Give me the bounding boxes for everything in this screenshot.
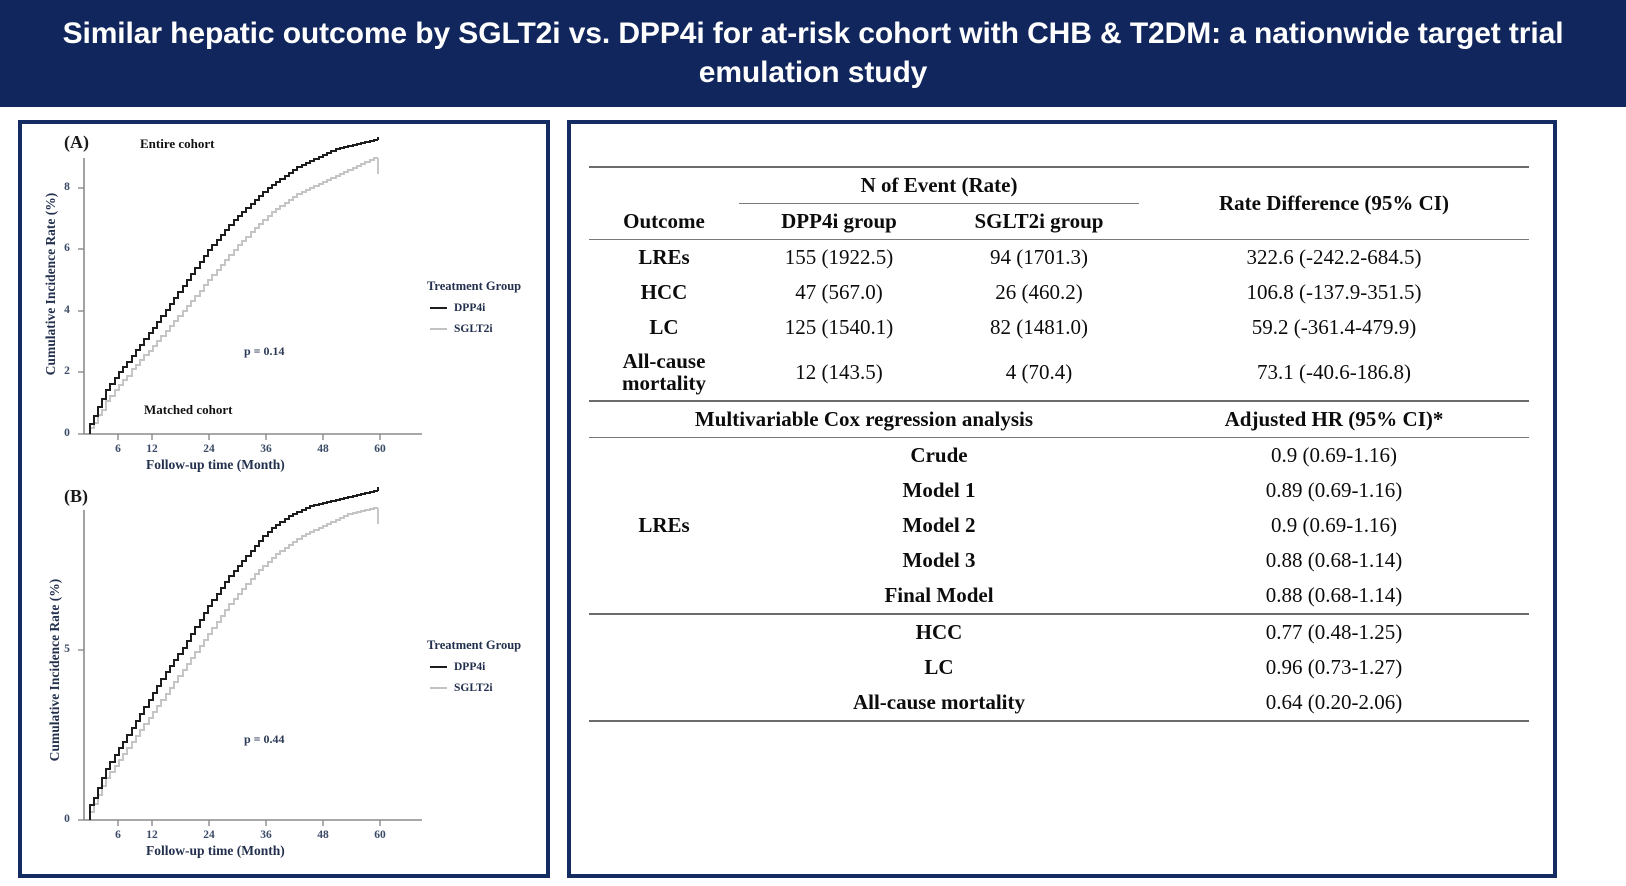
header-adjusted-hr: Adjusted HR (95% CI)* [1139, 401, 1529, 438]
figure-a-ytick-4: 4 [58, 304, 76, 316]
cell-cox-model: Model 1 [739, 473, 1139, 508]
cell-cox-model: Crude [739, 437, 1139, 473]
cell-adjusted-hr: 0.77 (0.48-1.25) [1139, 614, 1529, 650]
figure-a-xtick-60: 60 [370, 443, 390, 455]
cell-dpp4i: 155 (1922.5) [739, 240, 939, 276]
figure-a-ytick-8: 8 [58, 181, 76, 193]
cell-cox-model: Final Model [739, 578, 1139, 614]
cell-rate-difference: 322.6 (-242.2-684.5) [1139, 240, 1529, 276]
figure-b-legend-item-dpp4i[interactable]: DPP4i [430, 661, 485, 673]
table-cox-header-row: Multivariable Cox regression analysis Ad… [589, 401, 1529, 438]
cell-sglt2i: 94 (1701.3) [939, 240, 1139, 276]
cell-adjusted-hr: 0.9 (0.69-1.16) [1139, 437, 1529, 473]
figure-a-legend-title: Treatment Group [427, 279, 521, 294]
table-row: LREs 155 (1922.5) 94 (1701.3) 322.6 (-24… [589, 240, 1529, 276]
figure-a-ytick-6: 6 [58, 242, 76, 254]
figure-a-x-axis-label: Follow-up time (Month) [146, 457, 285, 473]
cell-outcome: LC [739, 650, 1139, 685]
spacer-cell [589, 437, 739, 473]
cell-adjusted-hr: 0.89 (0.69-1.16) [1139, 473, 1529, 508]
cell-dpp4i: 125 (1540.1) [739, 310, 939, 345]
figure-a-legend-label-sglt2i: SGLT2i [454, 323, 493, 335]
page-title: Similar hepatic outcome by SGLT2i vs. DP… [26, 15, 1600, 92]
figure-b-legend-item-sglt2i[interactable]: SGLT2i [430, 682, 493, 694]
figure-b-xtick-6: 6 [108, 829, 128, 841]
figure-b-legend-label-sglt2i: SGLT2i [454, 682, 493, 694]
cell-outcome: LREs [589, 240, 739, 276]
cell-adjusted-hr: 0.64 (0.20-2.06) [1139, 685, 1529, 721]
results-table: N of Event (Rate) Rate Difference (95% C… [589, 166, 1529, 722]
figure-a-pvalue: p = 0.14 [244, 344, 285, 359]
table-row: Model 1 0.89 (0.69-1.16) [589, 473, 1529, 508]
figure-a-xtick-12: 12 [142, 443, 162, 455]
header-n-of-event: N of Event (Rate) [739, 167, 1139, 204]
cell-dpp4i: 47 (567.0) [739, 275, 939, 310]
cell-outcome: HCC [589, 275, 739, 310]
cell-adjusted-hr: 0.9 (0.69-1.16) [1139, 508, 1529, 543]
figure-b-x-axis-label: Follow-up time (Month) [146, 843, 285, 859]
cell-rate-difference: 59.2 (-361.4-479.9) [1139, 310, 1529, 345]
cell-adjusted-hr: 0.88 (0.68-1.14) [1139, 543, 1529, 578]
spacer-cell [589, 578, 739, 614]
cell-sglt2i: 26 (460.2) [939, 275, 1139, 310]
spacer-cell [589, 473, 739, 508]
spacer-cell [589, 650, 739, 685]
header-dpp4i-group: DPP4i group [739, 204, 939, 240]
table-header-group-row: N of Event (Rate) Rate Difference (95% C… [589, 167, 1529, 204]
cell-outcome: All-cause mortality [589, 345, 739, 401]
figure-a: (A) Entire cohort Matched cohort Cumulat… [22, 124, 546, 480]
figure-a-legend-item-sglt2i[interactable]: SGLT2i [430, 323, 493, 335]
table-row: Crude 0.9 (0.69-1.16) [589, 437, 1529, 473]
figure-b-legend-title: Treatment Group [427, 638, 521, 653]
cell-adjusted-hr: 0.88 (0.68-1.14) [1139, 578, 1529, 614]
figure-b-pvalue: p = 0.44 [244, 732, 285, 747]
line-swatch-icon [430, 328, 447, 331]
cell-cox-model: Model 2 [739, 508, 1139, 543]
table-row: All-cause mortality 12 (143.5) 4 (70.4) … [589, 345, 1529, 401]
figure-a-legend-label-dpp4i: DPP4i [454, 302, 485, 314]
cell-sglt2i: 4 (70.4) [939, 345, 1139, 401]
figure-b-ytick-0: 0 [58, 813, 76, 825]
cell-rate-difference: 73.1 (-40.6-186.8) [1139, 345, 1529, 401]
figure-a-legend-item-dpp4i[interactable]: DPP4i [430, 302, 485, 314]
cell-dpp4i: 12 (143.5) [739, 345, 939, 401]
figure-a-ytick-0: 0 [58, 427, 76, 439]
cell-outcome-line2: mortality [622, 371, 706, 395]
figure-a-ytick-2: 2 [58, 365, 76, 377]
cell-rate-difference: 106.8 (-137.9-351.5) [1139, 275, 1529, 310]
table-row: LREs Model 2 0.9 (0.69-1.16) [589, 508, 1529, 543]
poster-title-banner: Similar hepatic outcome by SGLT2i vs. DP… [0, 0, 1626, 107]
figure-a-xtick-24: 24 [199, 443, 219, 455]
figure-a-xtick-36: 36 [256, 443, 276, 455]
header-sglt2i-group: SGLT2i group [939, 204, 1139, 240]
figure-b-xtick-36: 36 [256, 829, 276, 841]
line-swatch-icon [430, 687, 447, 690]
figures-panel: (A) Entire cohort Matched cohort Cumulat… [18, 120, 550, 878]
header-rate-difference: Rate Difference (95% CI) [1139, 167, 1529, 240]
cell-outcome: LC [589, 310, 739, 345]
poster-root: Similar hepatic outcome by SGLT2i vs. DP… [0, 0, 1626, 886]
table-row: HCC 0.77 (0.48-1.25) [589, 614, 1529, 650]
figure-b-xtick-24: 24 [199, 829, 219, 841]
spacer-cell [589, 543, 739, 578]
spacer-cell [589, 167, 739, 204]
line-swatch-icon [430, 307, 447, 310]
figure-b-legend-label-dpp4i: DPP4i [454, 661, 485, 673]
figure-b-xtick-60: 60 [370, 829, 390, 841]
spacer-cell [589, 685, 739, 721]
cell-adjusted-hr: 0.96 (0.73-1.27) [1139, 650, 1529, 685]
header-cox-analysis: Multivariable Cox regression analysis [589, 401, 1139, 438]
table-row: All-cause mortality 0.64 (0.20-2.06) [589, 685, 1529, 721]
table-row: Final Model 0.88 (0.68-1.14) [589, 578, 1529, 614]
table-row: HCC 47 (567.0) 26 (460.2) 106.8 (-137.9-… [589, 275, 1529, 310]
spacer-cell [589, 614, 739, 650]
line-swatch-icon [430, 666, 447, 669]
cell-outcome: HCC [739, 614, 1139, 650]
cell-cox-group-label: LREs [589, 508, 739, 543]
table-row: LC 0.96 (0.73-1.27) [589, 650, 1529, 685]
cell-cox-model: Model 3 [739, 543, 1139, 578]
cell-outcome: All-cause mortality [739, 685, 1139, 721]
figure-b-xtick-48: 48 [313, 829, 333, 841]
figure-b-ytick-5: 5 [58, 643, 76, 655]
figure-b-xtick-12: 12 [142, 829, 162, 841]
results-table-panel: N of Event (Rate) Rate Difference (95% C… [567, 120, 1557, 878]
figure-b-plot [22, 480, 546, 874]
table-row: Model 3 0.88 (0.68-1.14) [589, 543, 1529, 578]
cell-sglt2i: 82 (1481.0) [939, 310, 1139, 345]
results-table-wrapper: N of Event (Rate) Rate Difference (95% C… [589, 166, 1529, 722]
header-outcome: Outcome [589, 204, 739, 240]
cell-outcome-line1: All-cause [623, 349, 706, 373]
figure-a-xtick-48: 48 [313, 443, 333, 455]
table-row: LC 125 (1540.1) 82 (1481.0) 59.2 (-361.4… [589, 310, 1529, 345]
figure-a-xtick-6: 6 [108, 443, 128, 455]
figure-b: (B) Cumulative Incidence Rate (%) [22, 480, 546, 874]
